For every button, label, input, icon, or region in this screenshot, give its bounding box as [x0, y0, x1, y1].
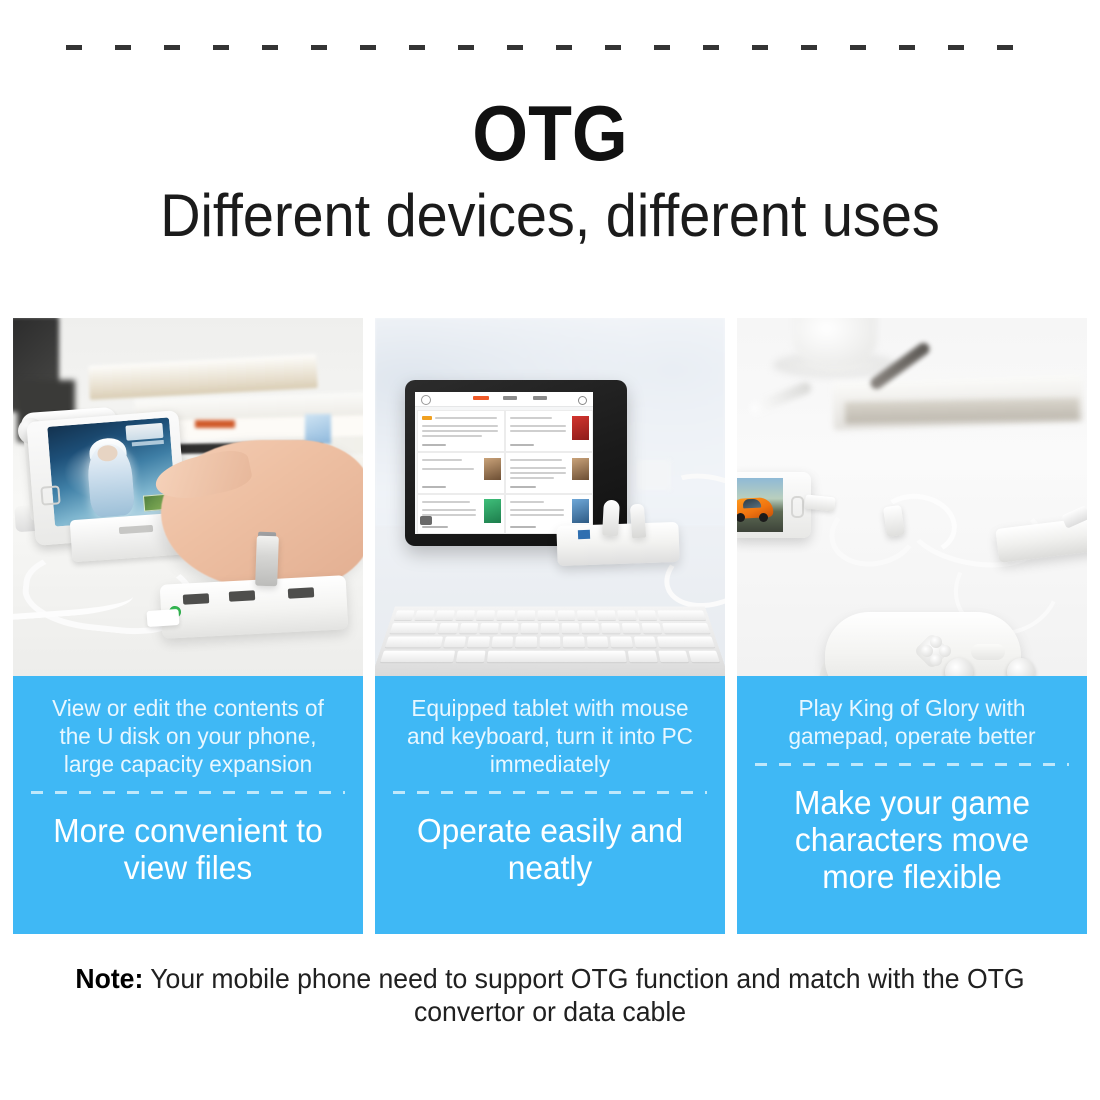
article-body-line: [510, 472, 566, 474]
feature-headline: Operate easily and neatly: [395, 812, 704, 886]
article-thumbnail: [572, 416, 589, 440]
racing-game-car-wheel: [759, 513, 768, 522]
smartphone-screen: [737, 478, 783, 532]
key: [587, 637, 609, 648]
key: [380, 651, 455, 663]
key: [628, 651, 658, 663]
feature-card-3: Play King of Glory with gamepad, operate…: [737, 318, 1087, 934]
smartphone-home-button: [40, 485, 60, 505]
gamepad-center-buttons: [971, 644, 1005, 660]
usb-port-1: [183, 593, 209, 604]
footer-note: Note: Your mobile phone need to support …: [28, 962, 1073, 1028]
article-card: [505, 410, 593, 452]
smartphone-screen: [47, 417, 176, 526]
key: [515, 637, 537, 648]
book-title-mark: [195, 420, 235, 428]
mouse-receiver: [602, 500, 620, 537]
article-body-line: [422, 435, 482, 437]
note-label: Note:: [75, 963, 143, 994]
article-meta-line: [422, 486, 446, 488]
app-avatar-icon: [421, 395, 431, 405]
feature-card-2: Equipped tablet with mouse and keyboard,…: [375, 318, 725, 934]
gamepad-action-buttons: [921, 636, 951, 666]
article-title-line: [435, 417, 497, 419]
key: [658, 651, 689, 663]
article-thumbnail: [484, 458, 501, 480]
feature-photo-phone-gamepad: [737, 318, 1087, 676]
key: [581, 623, 599, 633]
key: [414, 610, 434, 620]
gamepad-body: [825, 612, 1021, 676]
key: [634, 637, 657, 648]
keyboard-row: [394, 610, 706, 620]
feature-photo-phone-stand-hub: [13, 318, 363, 676]
article-body-line: [510, 430, 566, 432]
top-dashed-divider: [66, 45, 1036, 50]
app-tab-2: [503, 396, 517, 400]
usb-plug-connector: [146, 609, 179, 627]
racing-game-car-wheel: [737, 513, 745, 522]
key: [385, 637, 443, 648]
key: [500, 623, 518, 633]
article-title-line: [510, 417, 552, 419]
keyboard-row: [385, 637, 715, 648]
key: [642, 623, 662, 633]
key: [563, 637, 585, 648]
article-title-line: [510, 459, 562, 461]
key: [557, 610, 575, 620]
article-thumbnail: [484, 499, 501, 523]
article-card: [417, 410, 505, 452]
gamepad-button: [939, 645, 951, 657]
key: [601, 623, 620, 633]
article-card: [505, 452, 593, 494]
article-body-line: [422, 425, 498, 427]
key: [459, 623, 478, 633]
feature-caption-3: Play King of Glory with gamepad, operate…: [737, 676, 1087, 934]
article-card: [417, 494, 505, 534]
key: [390, 623, 439, 633]
feature-headline: More convenient to view files: [33, 812, 342, 886]
key: [658, 610, 706, 620]
key: [439, 623, 459, 633]
notebook-pages: [845, 398, 1079, 424]
article-meta-line: [510, 526, 536, 528]
app-tab-3: [533, 396, 547, 400]
article-card: [417, 452, 505, 494]
otg-connector: [804, 494, 835, 511]
key: [657, 637, 715, 648]
caption-dashed-divider: [31, 791, 345, 794]
keyboard-row: [390, 623, 711, 633]
key: [521, 623, 539, 633]
book-stack-top: [88, 354, 317, 400]
smartphone-home-button: [791, 496, 804, 518]
app-search-icon: [578, 396, 587, 405]
key: [455, 610, 474, 620]
key: [456, 651, 486, 663]
article-meta-line: [510, 444, 534, 446]
article-body-line: [510, 514, 564, 516]
coffee-cup: [793, 318, 877, 368]
gamepad-stick-right: [1007, 658, 1035, 676]
tablet-brand-logo: [420, 516, 432, 525]
usb-port-2: [229, 590, 255, 601]
feature-card-row: View or edit the contents of the U disk …: [13, 318, 1087, 934]
key: [689, 651, 720, 663]
caption-dashed-divider: [755, 763, 1069, 766]
feature-caption-2: Equipped tablet with mouse and keyboard,…: [375, 676, 725, 934]
key: [491, 637, 513, 648]
caption-dashed-divider: [393, 791, 707, 794]
page-subtitle: Different devices, different uses: [39, 180, 1062, 252]
article-body-line: [510, 425, 566, 427]
key: [638, 610, 658, 620]
usb-port-3: [288, 587, 314, 598]
book-cover-logo: [305, 414, 331, 444]
article-title-line: [422, 459, 462, 461]
key: [662, 623, 711, 633]
tablet-screen: [415, 392, 593, 534]
article-title-line: [422, 501, 470, 503]
feature-description: Play King of Glory with gamepad, operate…: [757, 694, 1066, 750]
key: [561, 623, 579, 633]
key: [622, 623, 641, 633]
article-body-line: [510, 477, 554, 479]
keyboard-row: [380, 651, 720, 663]
article-body-line: [422, 430, 498, 432]
key: [539, 637, 560, 648]
key: [541, 623, 559, 633]
usb-dongle: [630, 504, 646, 539]
article-meta-line: [510, 486, 536, 488]
article-meta-line: [422, 526, 448, 528]
key: [610, 637, 633, 648]
article-body-line: [510, 509, 564, 511]
keyboard-device: [375, 606, 725, 676]
otg-feature-page: OTG Different devices, different uses: [0, 0, 1100, 1100]
hub-port-chip: [578, 530, 590, 539]
gamepad-button: [930, 654, 942, 666]
spacebar-key: [487, 651, 627, 663]
article-body-line: [422, 509, 476, 511]
key: [577, 610, 595, 620]
article-body-line: [422, 468, 474, 470]
feature-card-1: View or edit the contents of the U disk …: [13, 318, 363, 934]
racing-game-car-window: [743, 499, 761, 509]
feature-headline: Make your game characters move more flex…: [757, 784, 1066, 895]
header-block: OTG Different devices, different uses: [0, 92, 1100, 252]
game-subtitle-bar: [132, 440, 164, 446]
key: [443, 637, 466, 648]
note-text: Your mobile phone need to support OTG fu…: [150, 963, 1024, 1027]
key: [435, 610, 455, 620]
key: [467, 637, 490, 648]
article-body-line: [510, 467, 566, 469]
app-tab-active: [473, 396, 489, 400]
usb-hub-device: [160, 575, 349, 639]
key: [618, 610, 637, 620]
article-thumbnail: [572, 499, 589, 523]
article-title-line: [510, 501, 544, 503]
page-title: OTG: [44, 92, 1056, 174]
key: [597, 610, 616, 620]
feature-photo-tablet-keyboard: [375, 318, 725, 676]
usb-flash-drive: [255, 536, 279, 587]
feature-description: View or edit the contents of the U disk …: [33, 694, 342, 778]
feature-description: Equipped tablet with mouse and keyboard,…: [395, 694, 704, 778]
article-thumbnail: [572, 458, 589, 480]
feature-caption-1: View or edit the contents of the U disk …: [13, 676, 363, 934]
game-title-banner: [126, 423, 164, 441]
key: [537, 610, 555, 620]
key: [517, 610, 535, 620]
desk-object: [749, 380, 813, 415]
key: [480, 623, 499, 633]
key: [476, 610, 495, 620]
key: [394, 610, 415, 620]
key: [496, 610, 515, 620]
article-tag: [422, 416, 432, 420]
app-top-bar: [415, 392, 593, 407]
article-meta-line: [422, 444, 446, 446]
